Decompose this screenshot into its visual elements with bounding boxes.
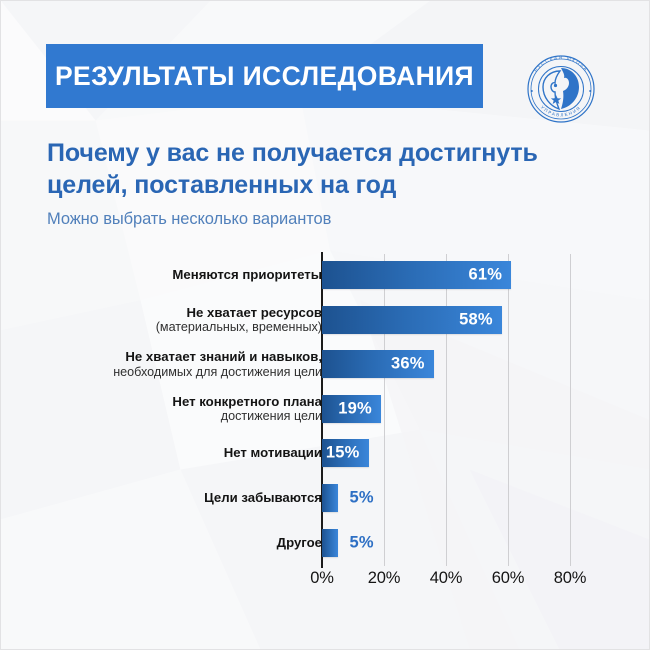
category-label: Нет мотивации [32,446,322,462]
chart-row: Другое5% [1,521,650,565]
bar[interactable]: 58% [322,306,502,334]
bar-value-label: 36% [391,355,425,374]
bar-chart: Меняются приоритеты61%Не хватает ресурсо… [1,1,650,650]
category-sublabel: (материальных, временных) [32,320,322,335]
x-tick-label: 60% [492,569,524,588]
chart-row: Нет конкретного планадостижения цели19% [1,387,650,431]
category-label: Нет конкретного планадостижения цели [32,394,322,424]
chart-row: Меняются приоритеты61% [1,253,650,297]
bar-value-label: 61% [468,266,502,285]
x-tick-label: 80% [554,569,586,588]
chart-row: Не хватает знаний и навыков,необходимых … [1,342,650,386]
category-sublabel: необходимых для достижения цели [32,365,322,380]
bar[interactable]: 19% [322,395,381,423]
category-label: Меняются приоритеты [32,267,322,283]
bar[interactable] [322,529,338,557]
bar-value-label: 5% [350,489,374,508]
bar[interactable]: 15% [322,439,369,467]
chart-row: Не хватает ресурсов(материальных, времен… [1,298,650,342]
chart-rows: Меняются приоритеты61%Не хватает ресурсо… [1,1,650,650]
x-tick-label: 0% [310,569,333,588]
category-label: Не хватает знаний и навыков,необходимых … [32,349,322,379]
bar-value-label: 19% [338,399,372,418]
category-label: Другое [32,535,322,551]
chart-row: Нет мотивации15% [1,431,650,475]
bar-value-label: 5% [350,533,374,552]
bar[interactable]: 61% [322,261,511,289]
category-sublabel: достижения цели [32,409,322,424]
bar[interactable]: 36% [322,350,434,378]
bar-value-label: 15% [326,444,360,463]
bar-value-label: 58% [459,310,493,329]
category-label: Цели забываются [32,490,322,506]
x-tick-label: 40% [430,569,462,588]
category-label: Не хватает ресурсов(материальных, времен… [32,304,322,334]
bar[interactable] [322,484,338,512]
chart-row: Цели забываются5% [1,476,650,520]
x-axis-ticks: 0%20%40%60%80% [1,569,650,599]
infographic-card: РЕЗУЛЬТАТЫ ИССЛЕДОВАНИЯ РУССКАЯ ШКОЛА [0,0,650,650]
x-tick-label: 20% [368,569,400,588]
